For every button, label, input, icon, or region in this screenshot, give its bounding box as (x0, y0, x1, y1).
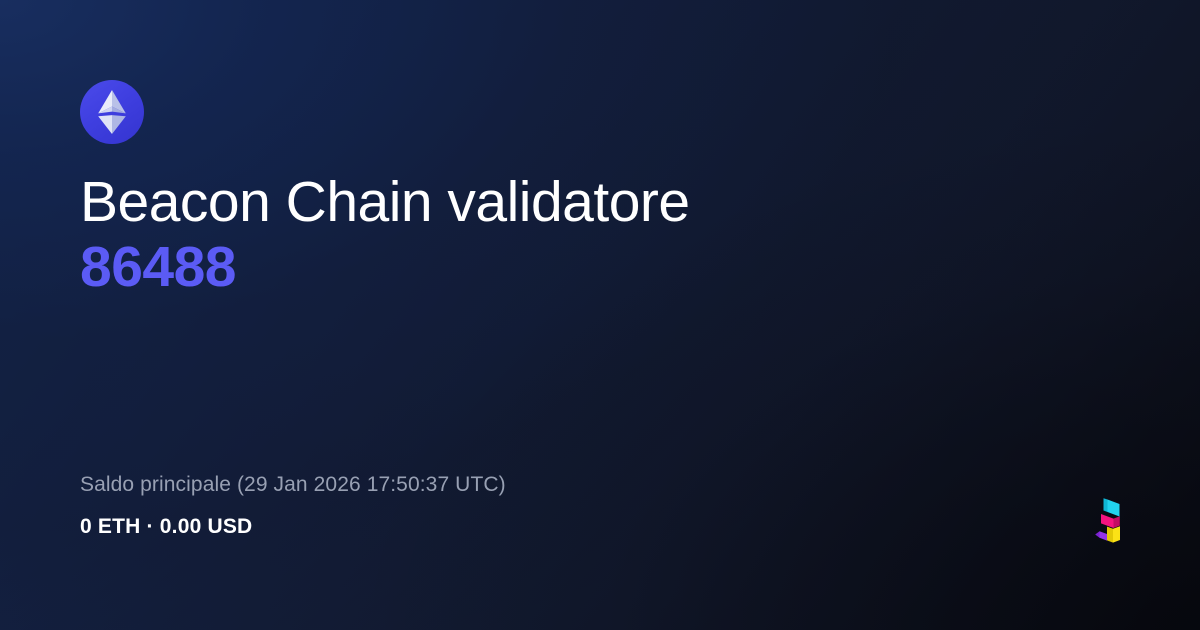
page-title-text: Beacon Chain validatore (80, 170, 690, 234)
layout-spacer (80, 298, 1120, 471)
ethereum-logo-icon (97, 89, 127, 135)
balance-stat-block: Saldo principale (29 Jan 2026 17:50:37 U… (80, 471, 1120, 540)
validator-index: 86488 (80, 236, 1120, 298)
ethereum-logo-badge (80, 80, 144, 144)
beaconchain-logo-icon (1094, 498, 1128, 548)
balance-value: 0 ETH · 0.00 USD (80, 514, 1120, 540)
balance-label: Saldo principale (29 Jan 2026 17:50:37 U… (80, 471, 1120, 499)
page-title: Beacon Chain validatore 86488 (80, 170, 1120, 298)
title-block: Beacon Chain validatore 86488 (80, 170, 1120, 298)
card-content: Beacon Chain validatore 86488 Saldo prin… (0, 0, 1200, 630)
open-graph-card: Beacon Chain validatore 86488 Saldo prin… (0, 0, 1200, 630)
